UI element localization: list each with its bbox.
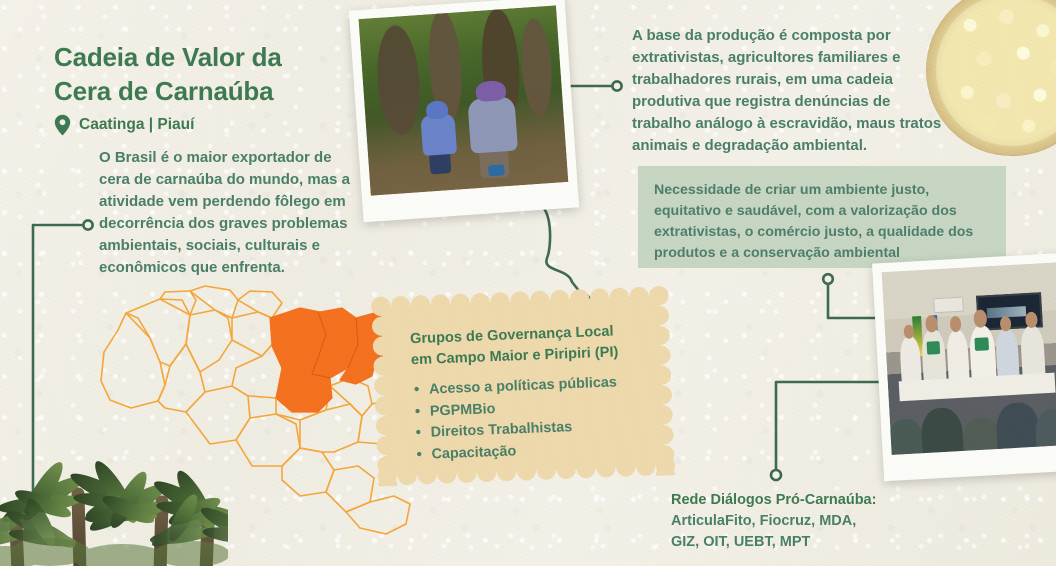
governance-stamp-card: Grupos de Governança Local em Campo Maio… — [370, 285, 675, 486]
location-label: Caatinga | Piauí — [79, 116, 194, 134]
governance-item-list: Acesso a políticas públicas PGPMBio Dire… — [412, 371, 655, 466]
meeting-photo-image — [882, 262, 1056, 455]
workers-in-carnauba-grove-photo — [349, 0, 579, 222]
location-row: Caatinga | Piauí — [54, 114, 194, 136]
page-title: Cadeia de Valor da Cera de Carnaúba — [54, 40, 282, 108]
governance-card-title: Grupos de Governança Local em Campo Maio… — [410, 320, 651, 371]
worker-front — [466, 79, 520, 176]
need-callout-box: Necessidade de criar um ambiente justo, … — [638, 166, 1006, 268]
wax-flakes — [942, 0, 1056, 140]
network-block: Rede Diálogos Pró-Carnaúba: ArticulaFito… — [671, 490, 941, 553]
audience — [882, 379, 1056, 455]
palm-cluster — [0, 376, 228, 566]
infographic-canvas: Cadeia de Valor da Cera de Carnaúba Caat… — [0, 0, 1056, 566]
network-members: ArticulaFito, Fiocruz, MDA, GIZ, OIT, UE… — [671, 511, 941, 553]
production-base-paragraph: A base da produção é composta por extrat… — [632, 25, 942, 157]
map-pin-icon — [54, 114, 71, 136]
field-photo-image — [358, 5, 568, 195]
network-heading: Rede Diálogos Pró-Carnaúba: — [671, 490, 941, 511]
stamp-content: Grupos de Governança Local em Campo Maio… — [410, 320, 655, 466]
need-callout-text: Necessidade de criar um ambiente justo, … — [654, 180, 990, 264]
intro-paragraph: O Brasil é o maior exportador de cera de… — [99, 147, 357, 279]
worker-back — [420, 99, 459, 172]
community-meeting-photo — [872, 253, 1056, 482]
air-conditioner — [933, 297, 964, 313]
carnauba-palm-trees-photo — [0, 376, 228, 566]
grove-background — [358, 5, 568, 195]
carnauba-wax-flakes-bowl-photo — [926, 0, 1056, 156]
